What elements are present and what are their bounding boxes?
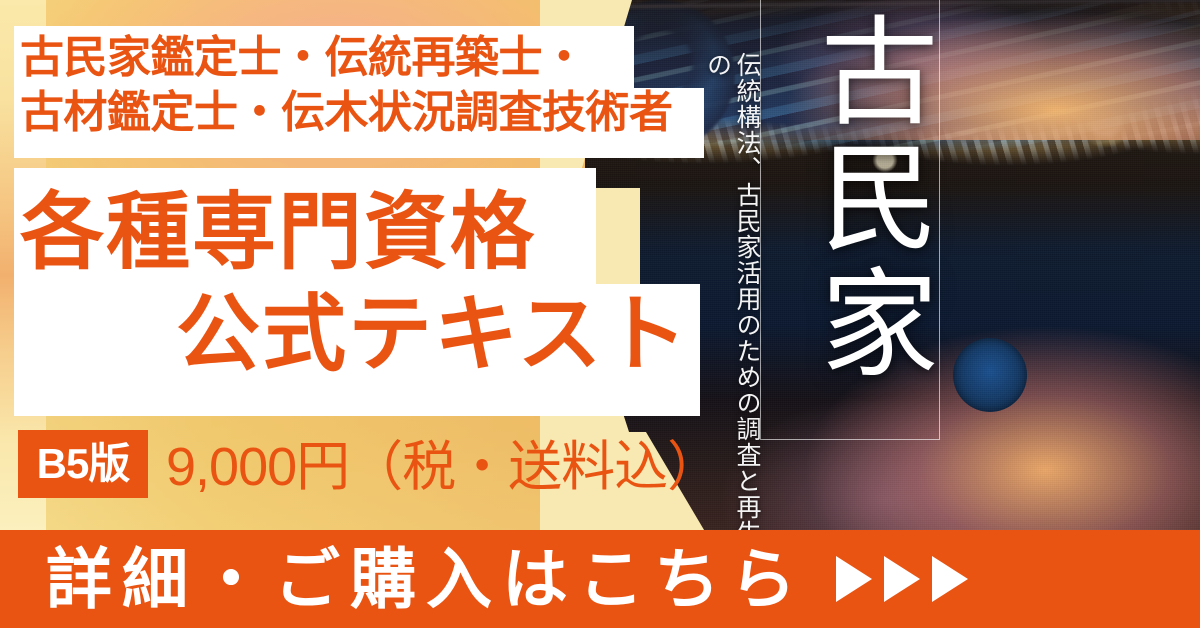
certifications-line-1: 古民家鑑定士・伝統再築士・ <box>20 30 720 85</box>
price-text: 9,000円（税・送料込） <box>166 436 720 498</box>
triangle-right-icon <box>884 556 920 602</box>
cta-bar[interactable]: 詳細・ご購入はこちら <box>0 530 1200 628</box>
book-cover-title: 古民家 <box>768 10 928 388</box>
certifications-text: 古民家鑑定士・伝統再築士・ 古材鑑定士・伝木状況調査技術者 <box>20 30 720 141</box>
triangle-right-icon <box>932 556 968 602</box>
triangle-right-icon <box>836 556 872 602</box>
product-title-line-1: 各種専門資格 <box>20 190 536 274</box>
certifications-line-2: 古材鑑定士・伝木状況調査技術者 <box>20 85 720 140</box>
cta-arrows <box>836 556 968 602</box>
product-title-line-2: 公式テキスト <box>176 292 689 376</box>
size-badge-label: B5版 <box>37 443 130 485</box>
cta-label: 詳細・ご購入はこちら <box>46 546 806 612</box>
promotional-banner: 古民家 伝統構法、古民家活用のための調査と再生の 古民家鑑定士・伝統再築士・ 古… <box>0 0 1200 628</box>
size-badge: B5版 <box>18 430 148 498</box>
